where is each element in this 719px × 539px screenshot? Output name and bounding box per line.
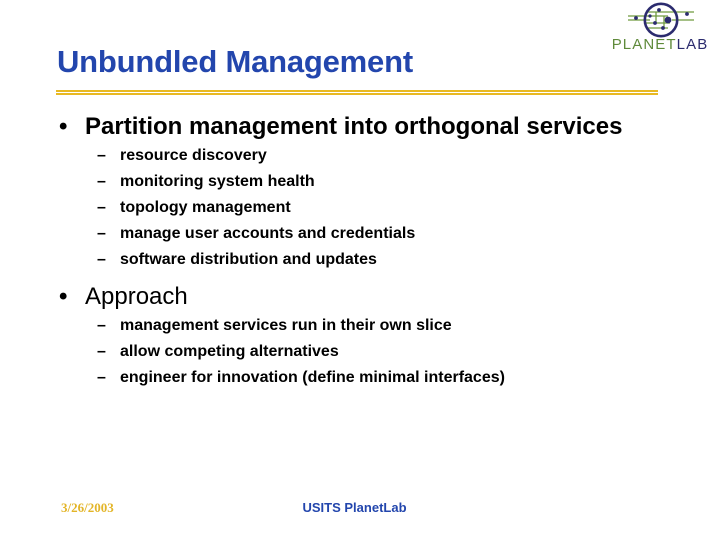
- dash-marker-icon: –: [97, 247, 106, 273]
- planetlab-logo: PLANETLAB: [606, 1, 714, 57]
- dash-marker-icon: –: [97, 313, 106, 339]
- planetlab-wordmark: PLANETLAB: [606, 36, 714, 53]
- bullet-level2-text: topology management: [120, 199, 291, 216]
- bullet-level2-text: engineer for innovation (define minimal …: [120, 369, 505, 386]
- group-spacer: [0, 273, 719, 282]
- bullet-level1: • Partition management into orthogonal s…: [0, 112, 719, 142]
- footer-title: USITS PlanetLab: [302, 500, 406, 515]
- bullet-level2: – management services run in their own s…: [0, 313, 719, 339]
- planetlab-globe-icon: [628, 1, 694, 39]
- bullet-level2: – software distribution and updates: [0, 247, 719, 273]
- bullet-level2-text: management services run in their own sli…: [120, 317, 452, 334]
- bullet-dot-icon: •: [59, 112, 67, 142]
- bullet-level2: – resource discovery: [0, 143, 719, 169]
- dash-marker-icon: –: [97, 143, 106, 169]
- dash-marker-icon: –: [97, 339, 106, 365]
- slide-canvas: PLANETLAB Unbundled Management • Partiti…: [0, 0, 719, 539]
- logo-word-planet: PLANET: [612, 36, 677, 53]
- title-divider-line-bottom: [56, 93, 658, 95]
- bullet-level2-text: resource discovery: [120, 147, 267, 164]
- bullet-level1-text: Approach: [85, 283, 188, 310]
- bullet-level2: – allow competing alternatives: [0, 339, 719, 365]
- slide-body: • Partition management into orthogonal s…: [0, 112, 719, 391]
- title-divider: [56, 90, 658, 95]
- dash-marker-icon: –: [97, 221, 106, 247]
- bullet-level2-text: allow competing alternatives: [120, 343, 339, 360]
- dash-marker-icon: –: [97, 365, 106, 391]
- bullet-level1-text: Partition management into orthogonal ser…: [85, 113, 622, 140]
- bullet-level2: – engineer for innovation (define minima…: [0, 365, 719, 391]
- bullet-level2-text: monitoring system health: [120, 173, 315, 190]
- footer-title-container: USITS PlanetLab: [0, 500, 719, 515]
- logo-word-lab: LAB: [677, 36, 709, 53]
- bullet-level2: – topology management: [0, 195, 719, 221]
- title-divider-line-top: [56, 90, 658, 92]
- bullet-level2: – monitoring system health: [0, 169, 719, 195]
- bullet-level2-text: software distribution and updates: [120, 251, 377, 268]
- bullet-dot-icon: •: [59, 282, 67, 312]
- bullet-level2-text: manage user accounts and credentials: [120, 225, 415, 242]
- dash-marker-icon: –: [97, 169, 106, 195]
- slide-title: Unbundled Management: [57, 44, 413, 80]
- bullet-level1: • Approach: [0, 282, 719, 312]
- dash-marker-icon: –: [97, 195, 106, 221]
- bullet-level2: – manage user accounts and credentials: [0, 221, 719, 247]
